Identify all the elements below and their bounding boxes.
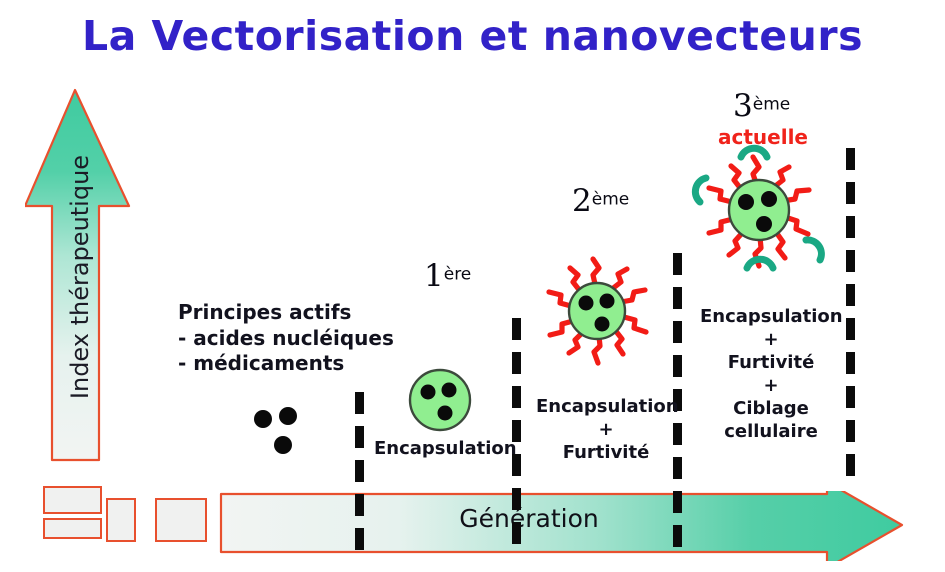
y-axis-arrow: Index thérapeutique — [25, 88, 135, 483]
generation-1-number: 1ère — [424, 258, 471, 294]
generation-2-caption: Encapsulation + Furtivité — [536, 395, 676, 464]
generation-2-particle — [533, 253, 661, 375]
x-axis-label: Génération — [219, 504, 839, 533]
y-axis-label: Index thérapeutique — [66, 127, 94, 427]
deco-box-1 — [43, 486, 102, 514]
generation-3-number: 3ème — [733, 88, 790, 124]
page-title: La Vectorisation et nanovecteurs — [0, 12, 945, 60]
generation-1-digit: 1 — [424, 258, 444, 294]
generation-2-number: 2ème — [572, 183, 629, 219]
generation-3-suffix: ème — [753, 95, 790, 115]
slide-canvas: La Vectorisation et nanovecteurs Index t… — [0, 0, 945, 572]
divider-1 — [355, 392, 364, 562]
generation-2-digit: 2 — [572, 183, 592, 219]
generation-3-particle — [688, 142, 830, 282]
generation-3-caption: Encapsulation + Furtivité + Ciblage cell… — [700, 305, 842, 443]
generation-1-suffix: ère — [444, 265, 472, 285]
deco-box-4 — [155, 498, 207, 542]
free-drug-particle — [250, 405, 310, 460]
generation-3-digit: 3 — [733, 88, 753, 124]
generation-1-caption: Encapsulation — [374, 437, 517, 460]
deco-box-2 — [43, 518, 102, 539]
generation-2-suffix: ème — [592, 190, 629, 210]
divider-4 — [846, 148, 855, 488]
free-drug-caption: Principes actifs - acides nucléiques - m… — [178, 300, 394, 377]
generation-1-particle — [406, 366, 474, 434]
deco-box-3 — [106, 498, 136, 542]
